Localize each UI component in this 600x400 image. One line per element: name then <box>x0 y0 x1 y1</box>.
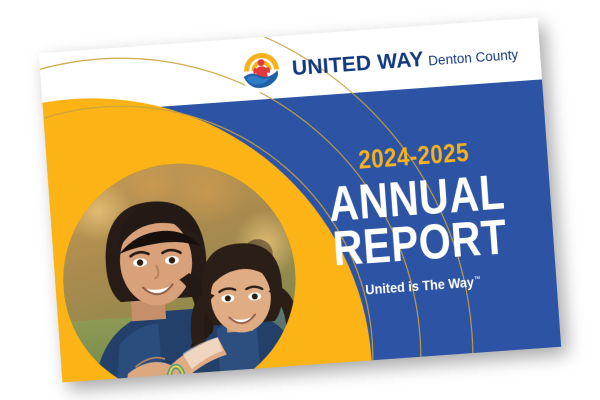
annual-report-cover: UNITED WAY Denton County 2024-2025 ANNUA… <box>39 18 561 383</box>
title-line-report: REPORT <box>328 215 511 273</box>
cover-title-block: 2024-2025 ANNUAL REPORT United is The Wa… <box>305 135 530 301</box>
united-way-logo-icon <box>237 46 286 95</box>
united-way-wordmark: UNITED WAY Denton County <box>291 42 518 79</box>
cover-sheet: UNITED WAY Denton County 2024-2025 ANNUA… <box>39 18 561 383</box>
organization-name: UNITED WAY <box>291 47 424 79</box>
screenshot-stage: UNITED WAY Denton County 2024-2025 ANNUA… <box>0 0 600 400</box>
chapter-name: Denton County <box>428 47 519 68</box>
trademark-symbol: ™ <box>474 276 481 283</box>
